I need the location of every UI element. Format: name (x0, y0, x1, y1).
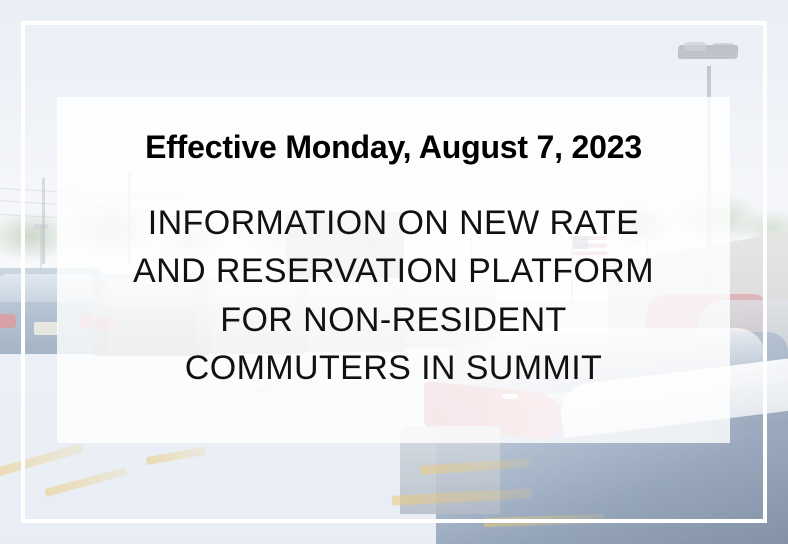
effective-date-text: Effective Monday, August 7, 2023 (145, 130, 642, 165)
page-title-line-1: INFORMATION ON NEW RATE (57, 199, 730, 247)
page-title-line-3: FOR NON-RESIDENT (57, 296, 730, 344)
announcement-banner: Effective Monday, August 7, 2023 INFORMA… (0, 0, 788, 544)
page-title-line-2: AND RESERVATION PLATFORM (57, 247, 730, 295)
page-title: INFORMATION ON NEW RATE AND RESERVATION … (57, 199, 730, 392)
page-title-line-4: COMMUTERS IN SUMMIT (57, 344, 730, 392)
banner-text-block: Effective Monday, August 7, 2023 INFORMA… (57, 97, 730, 443)
